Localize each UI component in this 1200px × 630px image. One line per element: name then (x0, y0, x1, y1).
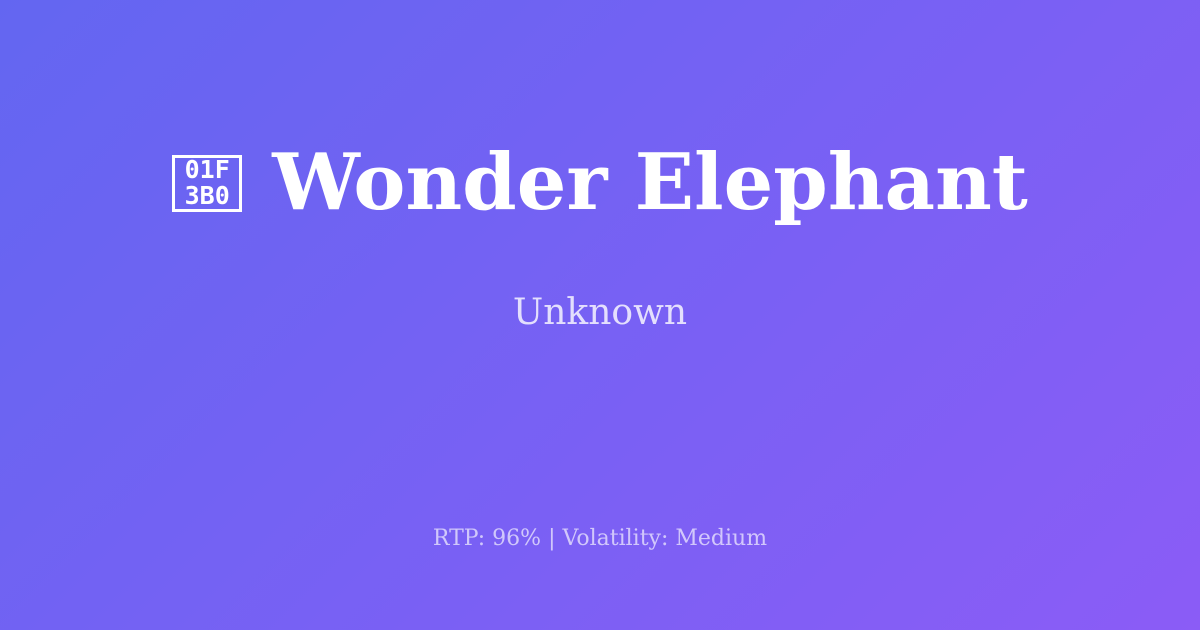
game-stats-footer: RTP: 96% | Volatility: Medium (0, 528, 1200, 550)
title-row: 01F 3B0 Wonder Elephant (0, 144, 1200, 222)
slot-machine-icon: 01F 3B0 (172, 155, 242, 212)
share-card: 01F 3B0 Wonder Elephant Unknown RTP: 96%… (0, 0, 1200, 630)
tofu-codepoint-bottom: 3B0 (185, 183, 230, 209)
provider-subtitle: Unknown (513, 295, 687, 331)
tofu-codepoint-top: 01F (185, 157, 230, 183)
page-title: Wonder Elephant (272, 144, 1028, 222)
hero-group: 01F 3B0 Wonder Elephant Unknown (0, 0, 1200, 475)
